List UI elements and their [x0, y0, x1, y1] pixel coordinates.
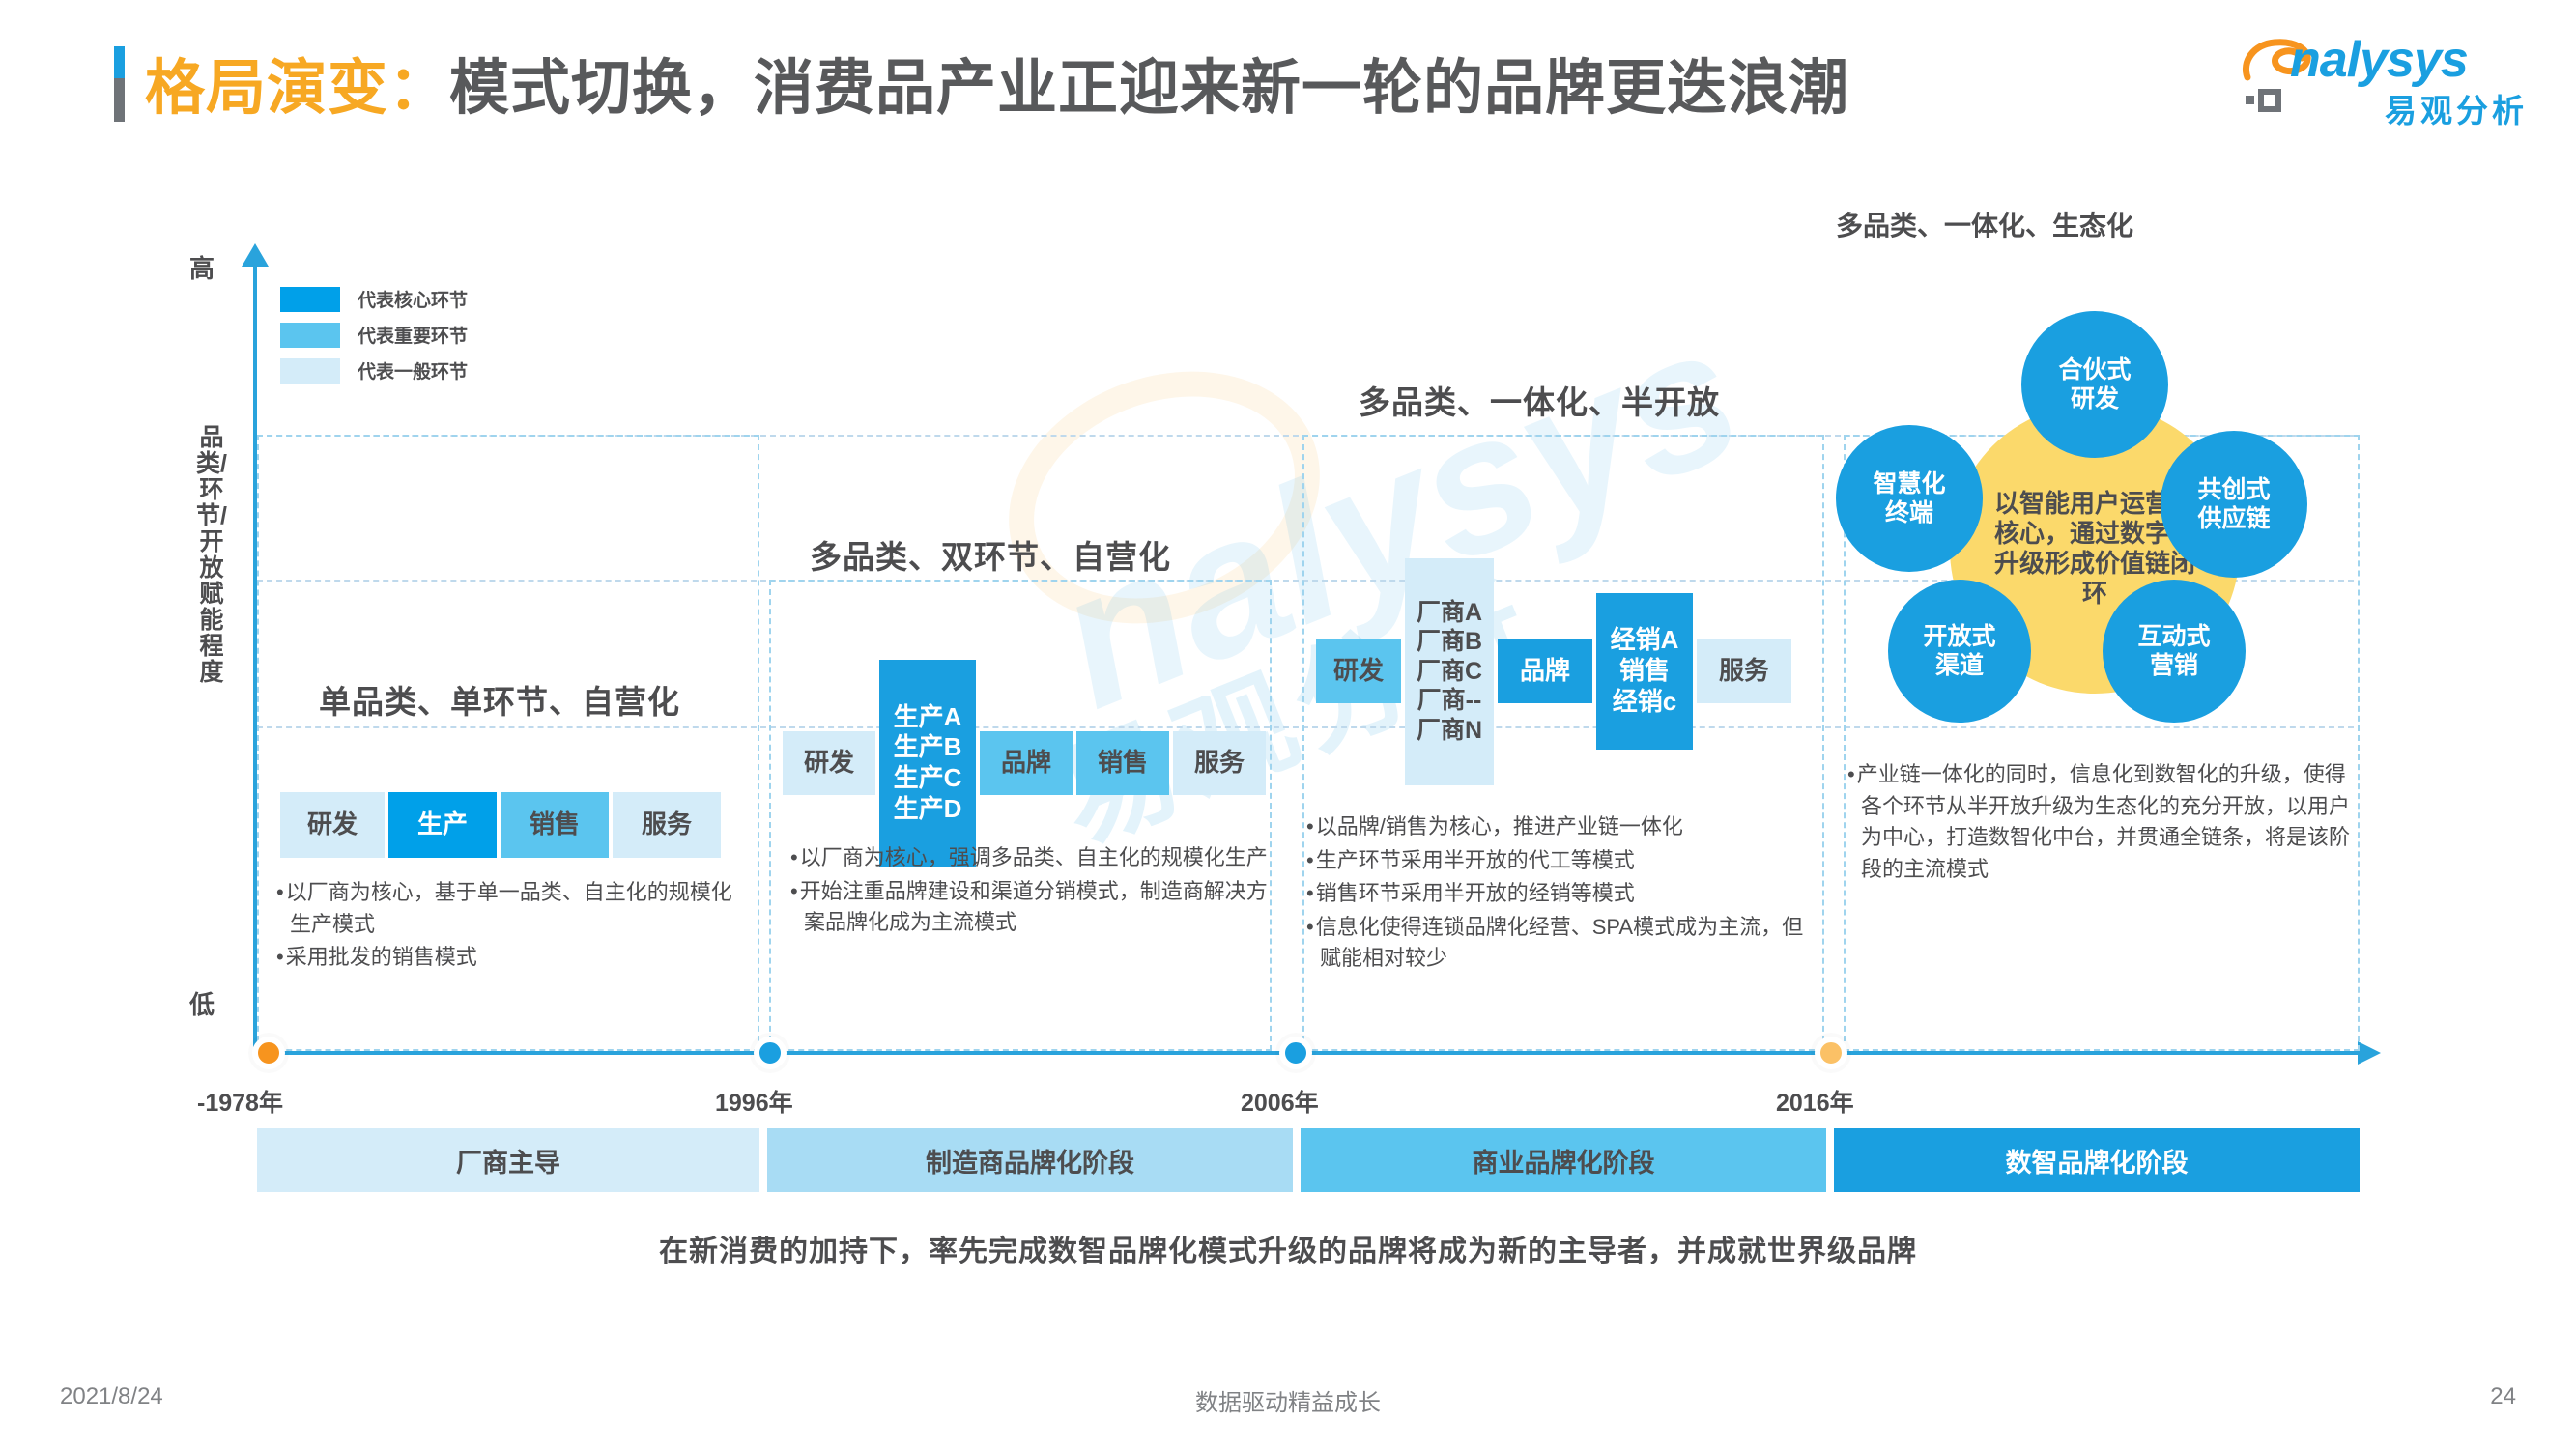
logo-chinese-name: 易观分析: [2385, 85, 2528, 131]
chain-node[interactable]: 生产A 生产B 生产C 生产D: [879, 660, 976, 867]
phase-bar-commercial-brand[interactable]: 商业品牌化阶段: [1301, 1128, 1826, 1192]
ecosystem-satellite-right[interactable]: 共创式 供应链: [2161, 431, 2307, 578]
stage-2-bullets: 以厂商为核心，强调多品类、自主化的规模化生产 开始注重品牌建设和渠道分销模式，制…: [790, 842, 1274, 941]
logo-square-icon: [2246, 87, 2284, 116]
legend-label-general: 代表一般环节: [358, 357, 468, 384]
legend-label-important: 代表重要环节: [358, 322, 468, 348]
legend-label-core: 代表核心环节: [358, 286, 468, 312]
bullet-item: 开始注重品牌建设和渠道分销模式，制造商解决方案品牌化成为主流模式: [790, 876, 1274, 939]
y-axis-high-label: 高: [189, 249, 215, 285]
phase-bar-manufacturer-led[interactable]: 厂商主导: [257, 1128, 759, 1192]
stage-1-title: 单品类、单环节、自营化: [319, 676, 680, 723]
chain-node[interactable]: 销售: [501, 792, 609, 858]
conclusion-text: 在新消费的加持下，率先完成数智品牌化模式升级的品牌将成为新的主导者，并成就世界级…: [0, 1227, 2576, 1269]
footer-tagline: 数据驱动精益成长: [0, 1383, 2576, 1417]
stage-3-chain: 研发 厂商A 厂商B 厂商C 厂商-- 厂商N 品牌 经销A 销售 经销c 服务: [1316, 531, 1791, 811]
ecosystem-satellite-bottom-right[interactable]: 互动式 营销: [2103, 580, 2246, 723]
timeline-label: 1996年: [715, 1084, 793, 1119]
stage-3-bullets: 以品牌/销售为核心，推进产业链一体化 生产环节采用半开放的代工等模式 销售环节采…: [1306, 811, 1809, 977]
chain-node[interactable]: 服务: [613, 792, 721, 858]
bullet-item: 以厂商为核心，强调多品类、自主化的规模化生产: [790, 842, 1274, 874]
phase-bar-manufacturer-brand[interactable]: 制造商品牌化阶段: [767, 1128, 1293, 1192]
chain-node[interactable]: 生产: [388, 792, 497, 858]
stage-4-title: 多品类、一体化、生态化: [1836, 205, 2133, 243]
legend-item: 代表重要环节: [280, 322, 468, 348]
timeline-label: 2006年: [1241, 1084, 1319, 1119]
stage-2-chain: 研发 生产A 生产B 生产C 生产D 品牌 销售 服务: [783, 676, 1266, 850]
analysys-logo: nalysys 易观分析: [2240, 27, 2530, 124]
chain-node[interactable]: 销售: [1076, 731, 1169, 795]
legend-item: 代表核心环节: [280, 286, 468, 312]
chain-node[interactable]: 研发: [783, 731, 875, 795]
y-axis-title: 品类/环节/开放赋能程度: [195, 425, 228, 686]
bullet-item: 销售环节采用半开放的经销等模式: [1306, 878, 1809, 910]
chain-node[interactable]: 服务: [1173, 731, 1266, 795]
bullet-item: 采用批发的销售模式: [276, 942, 752, 974]
chain-node[interactable]: 服务: [1697, 639, 1791, 703]
ecosystem-satellite-bottom-left[interactable]: 开放式 渠道: [1888, 580, 2031, 723]
legend-item: 代表一般环节: [280, 357, 468, 384]
stage-1-bullets: 以厂商为核心，基于单一品类、自主化的规模化生产模式 采用批发的销售模式: [276, 877, 752, 976]
stage-4-ecosystem-diagram: 以智能用户运营为核心，通过数字化升级形成价值链闭环 合伙式 研发 共创式 供应链…: [1836, 290, 2358, 734]
chain-node[interactable]: 研发: [1316, 639, 1401, 703]
logo-wordmark: nalysys: [2290, 31, 2468, 89]
page-title: 格局演变： 模式切换，消费品产业正迎来新一轮的品牌更迭浪潮: [145, 39, 1849, 126]
footer-page-number: 24: [2490, 1383, 2516, 1410]
chain-node[interactable]: 经销A 销售 经销c: [1596, 593, 1693, 750]
bullet-item: 以厂商为核心，基于单一品类、自主化的规模化生产模式: [276, 877, 752, 940]
timeline-label: -1978年: [197, 1084, 283, 1119]
bullet-item: 以品牌/销售为核心，推进产业链一体化: [1306, 811, 1809, 843]
ecosystem-satellite-top[interactable]: 合伙式 研发: [2021, 311, 2168, 458]
legend-swatch-core: [280, 287, 340, 312]
stage-2-title: 多品类、双环节、自营化: [810, 531, 1171, 578]
bullet-item: 生产环节采用半开放的代工等模式: [1306, 845, 1809, 877]
legend-swatch-important: [280, 323, 340, 348]
stage-3-title: 多品类、一体化、半开放: [1359, 377, 1720, 423]
slide-canvas: 格局演变： 模式切换，消费品产业正迎来新一轮的品牌更迭浪潮 nalysys 易观…: [0, 0, 2576, 1449]
chain-node[interactable]: 品牌: [980, 731, 1073, 795]
legend-swatch-general: [280, 358, 340, 384]
chain-node[interactable]: 品牌: [1498, 639, 1592, 703]
stage-4-bullets: 产业链一体化的同时，信息化到数智化的升级，使得各个环节从半开放升级为生态化的充分…: [1847, 759, 2352, 887]
timeline-label: 2016年: [1776, 1084, 1854, 1119]
page-title-highlight: 格局演变：: [145, 39, 449, 126]
ecosystem-satellite-left[interactable]: 智慧化 终端: [1836, 425, 1983, 572]
chain-node[interactable]: 研发: [280, 792, 385, 858]
bullet-item: 信息化使得连锁品牌化经营、SPA模式成为主流，但赋能相对较少: [1306, 912, 1809, 975]
stage-1-chain: 研发 生产 销售 服务: [280, 792, 721, 858]
title-accent-bar: [114, 46, 125, 122]
page-title-rest: 模式切换，消费品产业正迎来新一轮的品牌更迭浪潮: [449, 39, 1849, 126]
chain-node[interactable]: 厂商A 厂商B 厂商C 厂商-- 厂商N: [1405, 558, 1494, 785]
x-axis-arrow-icon: [2358, 1041, 2381, 1065]
bullet-item: 产业链一体化的同时，信息化到数智化的升级，使得各个环节从半开放升级为生态化的充分…: [1847, 759, 2352, 885]
y-axis-low-label: 低: [189, 985, 215, 1021]
phase-bar-digital-intelligent-brand[interactable]: 数智品牌化阶段: [1834, 1128, 2360, 1192]
legend: 代表核心环节 代表重要环节 代表一般环节: [280, 286, 468, 393]
